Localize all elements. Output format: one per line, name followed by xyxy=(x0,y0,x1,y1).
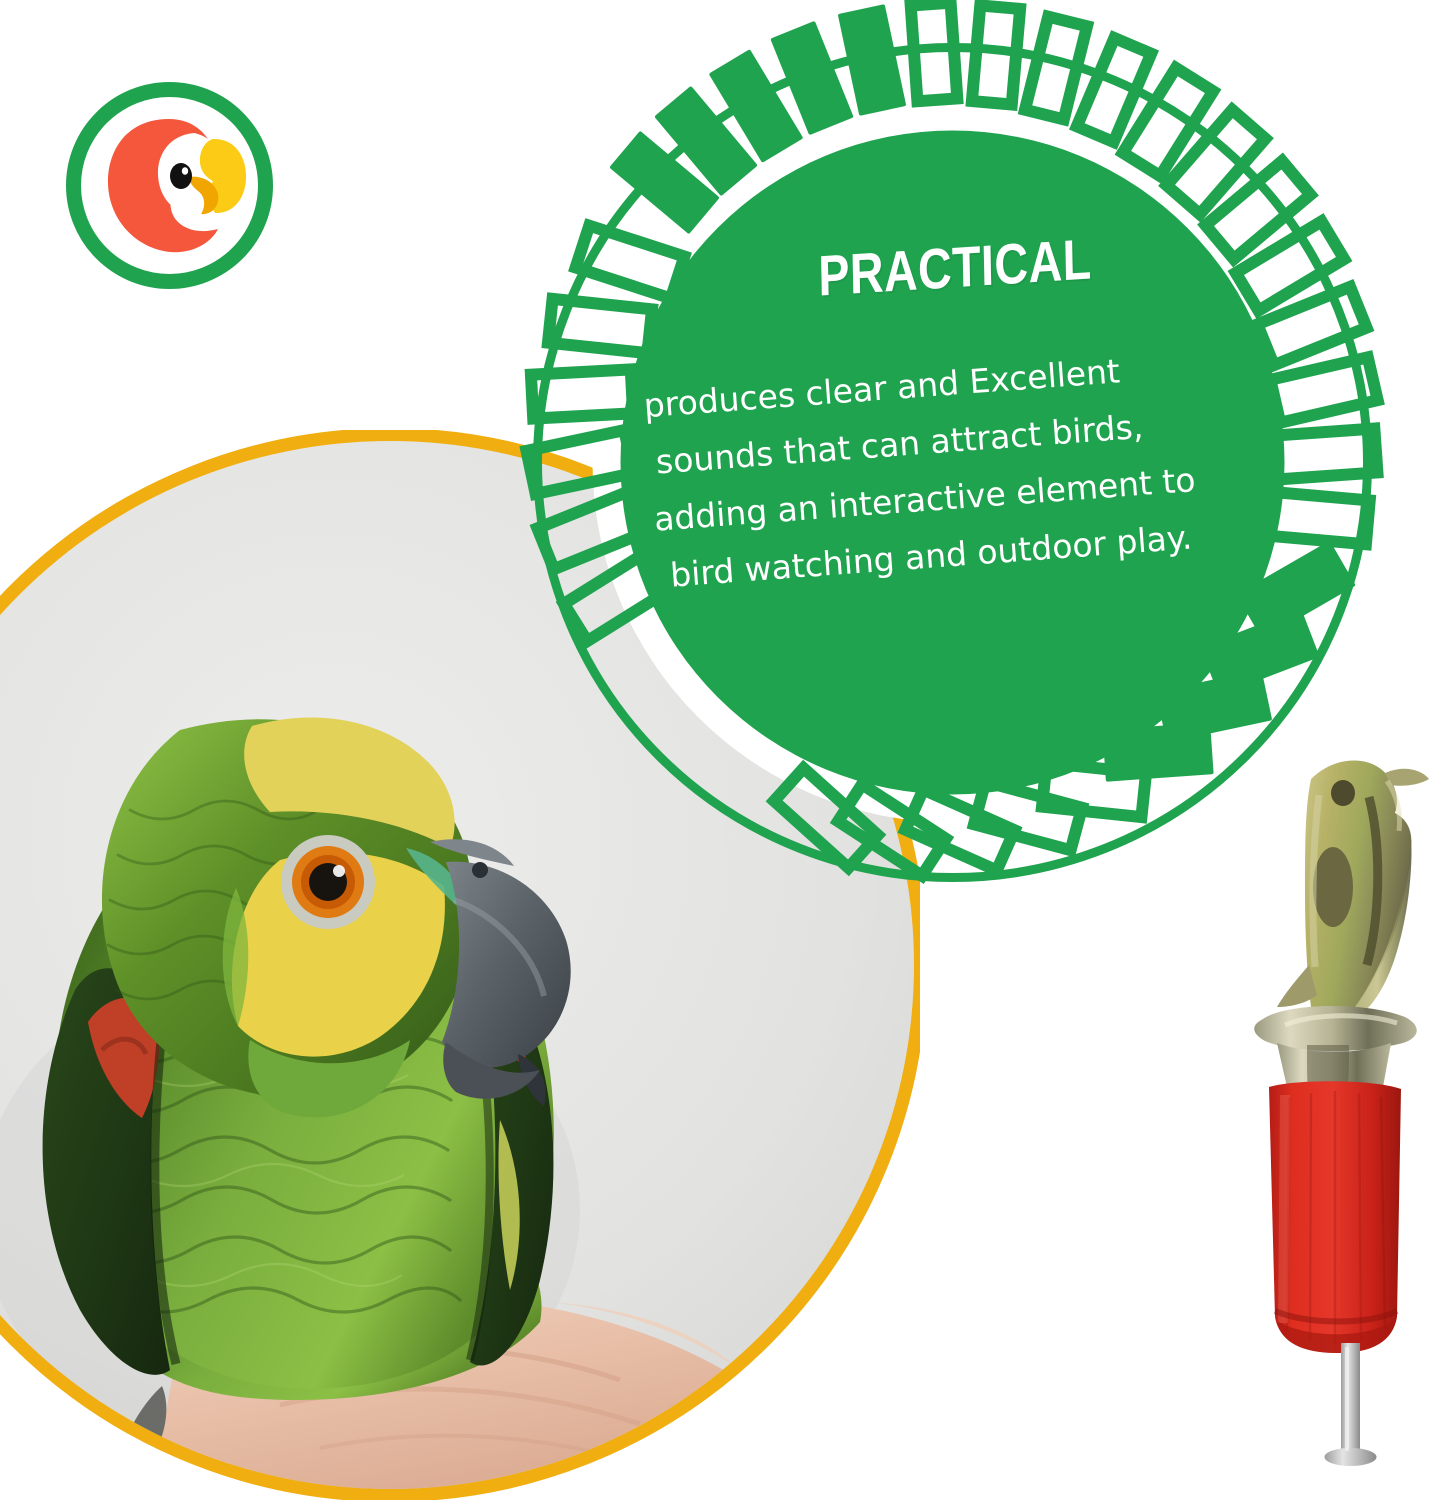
whistle-eye-hole xyxy=(1331,780,1355,806)
parrot-claw-left-tip xyxy=(94,1458,118,1500)
product-bird-whistle-perch xyxy=(1215,735,1455,1475)
metal-collar xyxy=(1254,1006,1417,1095)
parrot-eye-glint xyxy=(333,865,345,877)
whistle-body-hole xyxy=(1313,847,1353,927)
marketing-banner: PRACTICAL produces clear and Excellent s… xyxy=(0,0,1455,1500)
callout-circle xyxy=(621,131,1285,795)
bird-whistle-top xyxy=(1277,760,1429,1009)
steel-mounting-pin xyxy=(1325,1343,1377,1466)
logo-parrot-eye xyxy=(170,163,192,189)
logo-parrot-eye-glint xyxy=(182,167,188,175)
parrot-nostril xyxy=(472,862,488,878)
brand-logo xyxy=(62,78,277,293)
red-wooden-handle xyxy=(1269,1081,1401,1353)
